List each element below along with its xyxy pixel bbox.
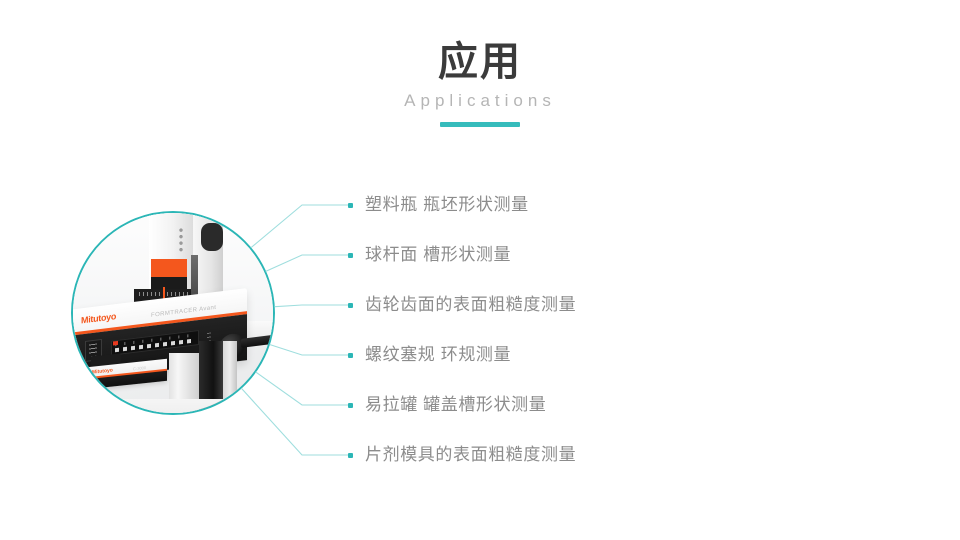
machine-column-holes (177, 227, 185, 253)
connector-line (266, 255, 350, 271)
machine-floor (73, 399, 275, 415)
connector-line (275, 305, 350, 307)
list-item[interactable]: 易拉罐 罐盖槽形状测量 (348, 392, 546, 418)
list-item-label: 螺纹塞规 环规测量 (365, 342, 511, 368)
list-item[interactable]: 片剂模具的表面粗糙度测量 (348, 442, 576, 468)
list-item[interactable]: 球杆面 槽形状测量 (348, 242, 511, 268)
list-item-label: 齿轮齿面的表面粗糙度测量 (365, 292, 576, 318)
list-item[interactable]: 螺纹塞规 环规测量 (348, 342, 511, 368)
list-item[interactable]: 塑料瓶 瓶坯形状测量 (348, 192, 529, 218)
bullet-dot-icon (348, 203, 353, 208)
page-subtitle: Applications (0, 89, 960, 113)
product-photo-circle: Mitutoyo FORMTRACER Avant Mitutoyo C-300… (71, 211, 275, 415)
machine-keypad-indicator (113, 341, 118, 346)
product-photo-image: Mitutoyo FORMTRACER Avant Mitutoyo C-300… (73, 213, 273, 413)
machine-brand-logo: Mitutoyo (81, 311, 116, 325)
connector-line (270, 345, 350, 355)
bullet-dot-icon (348, 403, 353, 408)
page-title: 应用 (0, 38, 960, 86)
machine-detector-head (201, 223, 223, 251)
list-item-label: 球杆面 槽形状测量 (365, 242, 511, 268)
bullet-dot-icon (348, 253, 353, 258)
bullet-dot-icon (348, 353, 353, 358)
title-underline-rule (440, 122, 520, 127)
list-item[interactable]: 齿轮齿面的表面粗糙度测量 (348, 292, 576, 318)
list-item-label: 塑料瓶 瓶坯形状测量 (365, 192, 529, 218)
bullet-dot-icon (348, 303, 353, 308)
list-item-label: 易拉罐 罐盖槽形状测量 (365, 392, 546, 418)
slide-header: 应用 Applications (0, 38, 960, 127)
slide-canvas: 应用 Applications Mitutoyo FORMTRACER Avan… (0, 0, 960, 540)
list-item-label: 片剂模具的表面粗糙度测量 (365, 442, 576, 468)
bullet-dot-icon (348, 453, 353, 458)
machine-orange-accent (151, 259, 187, 279)
